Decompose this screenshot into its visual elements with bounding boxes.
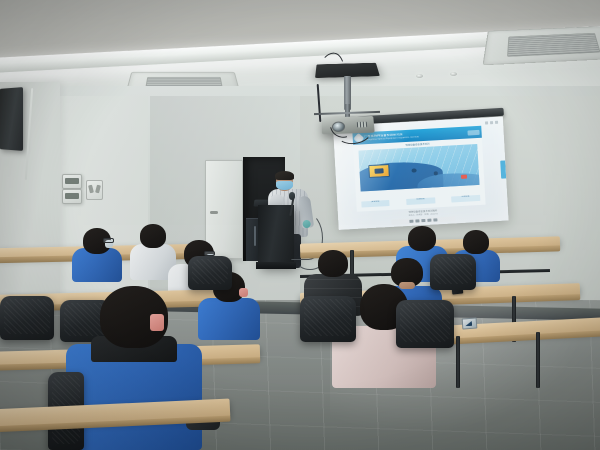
control-panel[interactable]	[62, 189, 82, 204]
training-room-photo: 广东省特种设备检测研究院 Guangdong Special Equipment…	[0, 0, 600, 450]
office-chair[interactable]	[430, 254, 476, 290]
wall-outlet-plate	[86, 180, 103, 200]
attendee-body	[198, 298, 260, 340]
figure-badge-icon	[369, 164, 391, 178]
slide-tab: 安全管理	[361, 200, 390, 208]
panel-display	[65, 178, 79, 184]
desk-leg	[456, 336, 460, 388]
slide-tab-row: 安全管理 检验检测 应急处置	[361, 195, 480, 208]
door-handle-icon[interactable]	[210, 211, 218, 214]
cabinet-handle	[254, 226, 256, 246]
presenter-face-mask	[276, 181, 293, 190]
glasses-icon	[103, 238, 114, 243]
figure-marker-icon	[433, 171, 438, 175]
presenter-hair	[275, 171, 294, 180]
ceiling-spotlight	[416, 74, 423, 78]
presentation-slide: 广东省特种设备检测研究院 Guangdong Special Equipment…	[352, 126, 485, 212]
chair-mesh	[400, 303, 450, 342]
chair-mesh	[434, 257, 472, 284]
attendee-head	[318, 250, 348, 277]
office-chair[interactable]	[0, 296, 54, 340]
panel-display	[65, 193, 79, 199]
window-controls	[485, 121, 498, 125]
microphone-icon	[289, 192, 295, 200]
figure-flag-icon	[461, 175, 467, 179]
ceiling-spotlight	[450, 72, 457, 76]
slide-header-chip	[467, 130, 479, 136]
chair-mesh	[304, 299, 352, 336]
slide-tab: 应急处置	[451, 195, 480, 203]
attendee-head	[408, 226, 436, 251]
chair-mesh	[192, 259, 228, 284]
desk-leg	[536, 332, 540, 388]
ac-grille	[507, 33, 600, 57]
attendee-blue-uniform-left-back	[72, 228, 122, 278]
attendee-head	[463, 230, 489, 254]
thermostat-panel[interactable]	[62, 174, 82, 189]
lectern-base	[256, 262, 296, 269]
office-chair[interactable]	[188, 256, 232, 290]
office-chair[interactable]	[396, 300, 454, 348]
slide-tab: 检验检测	[406, 198, 435, 206]
chair-mesh	[4, 299, 50, 334]
wall-speaker-icon	[0, 87, 23, 151]
side-tab	[500, 160, 506, 179]
figure-marker-icon	[412, 168, 417, 172]
slide-figure	[358, 144, 479, 192]
face-mask	[239, 288, 248, 297]
ceiling-ac-cassette-right	[483, 26, 600, 66]
office-chair[interactable]	[300, 296, 356, 342]
desk-name-card	[462, 317, 478, 329]
slide-header-title: 广东省特种设备检测研究院 Guangdong Special Equipment…	[364, 130, 465, 141]
attendee-head	[140, 224, 166, 248]
face-mask	[150, 314, 164, 331]
